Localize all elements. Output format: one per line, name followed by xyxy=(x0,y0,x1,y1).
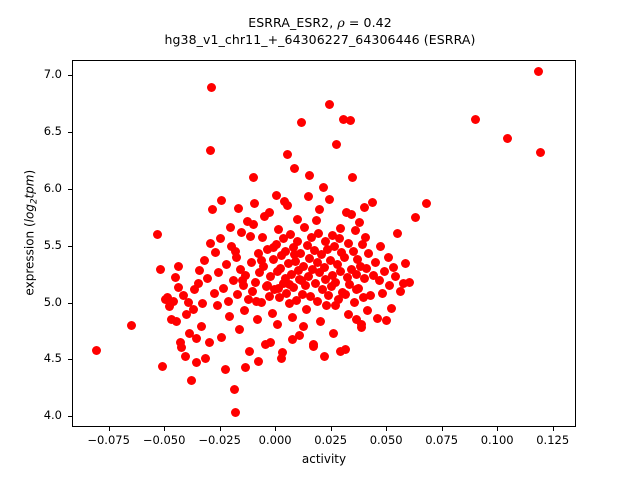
y-tick-mark xyxy=(68,189,72,190)
scatter-point xyxy=(316,317,325,326)
scatter-point xyxy=(268,309,277,318)
scatter-point xyxy=(153,230,162,239)
title-gene-pair: ESRRA_ESR2, xyxy=(248,15,337,30)
scatter-point xyxy=(320,352,329,361)
scatter-point xyxy=(380,267,389,276)
scatter-point xyxy=(288,313,297,322)
scatter-point xyxy=(364,249,373,258)
scatter-point xyxy=(304,192,313,201)
scatter-point xyxy=(211,248,220,257)
scatter-point xyxy=(405,278,414,287)
scatter-point xyxy=(200,256,209,265)
scatter-point xyxy=(221,365,230,374)
scatter-point xyxy=(324,291,333,300)
scatter-point xyxy=(363,306,372,315)
scatter-point xyxy=(319,183,328,192)
scatter-point xyxy=(216,234,225,243)
rho-symbol: ρ xyxy=(337,15,344,30)
scatter-point xyxy=(246,232,255,241)
scatter-point xyxy=(230,385,239,394)
scatter-point xyxy=(389,263,398,272)
scatter-point xyxy=(375,276,384,285)
x-tick-mark xyxy=(220,427,221,431)
x-tick-mark xyxy=(164,427,165,431)
scatter-point xyxy=(300,223,309,232)
scatter-point xyxy=(213,301,222,310)
scatter-point xyxy=(277,354,286,363)
scatter-point xyxy=(231,247,240,256)
scatter-point xyxy=(371,258,380,267)
scatter-point xyxy=(260,212,269,221)
scatter-point xyxy=(352,270,361,279)
scatter-point xyxy=(224,297,233,306)
x-tick-mark xyxy=(497,427,498,431)
scatter-point xyxy=(313,297,322,306)
scatter-point xyxy=(341,345,350,354)
scatter-point xyxy=(332,140,341,149)
scatter-point xyxy=(347,210,356,219)
scatter-point xyxy=(396,287,405,296)
scatter-point xyxy=(266,338,275,347)
scatter-point xyxy=(348,173,357,182)
scatter-point xyxy=(387,304,396,313)
scatter-point xyxy=(207,83,216,92)
scatter-point xyxy=(240,306,249,315)
scatter-point xyxy=(422,199,431,208)
scatter-point xyxy=(344,310,353,319)
scatter-point xyxy=(189,305,198,314)
scatter-point xyxy=(195,266,204,275)
scatter-point xyxy=(127,321,136,330)
scatter-point xyxy=(206,239,215,248)
scatter-point xyxy=(366,291,375,300)
scatter-point xyxy=(355,218,364,227)
chart-title-line2: hg38_v1_chr11_+_64306227_64306446 (ESRRA… xyxy=(0,31,640,48)
scatter-point xyxy=(274,225,283,234)
scatter-point xyxy=(172,317,181,326)
scatter-point xyxy=(263,281,272,290)
scatter-point xyxy=(302,305,311,314)
scatter-point xyxy=(254,357,263,366)
scatter-point xyxy=(382,316,391,325)
y-tick-mark xyxy=(68,416,72,417)
scatter-point xyxy=(258,233,267,242)
scatter-point xyxy=(249,220,258,229)
scatter-point xyxy=(229,276,238,285)
scatter-point xyxy=(411,213,420,222)
scatter-point xyxy=(361,233,370,242)
scatter-point xyxy=(174,262,183,271)
scatter-point xyxy=(177,343,186,352)
scatter-point xyxy=(233,290,242,299)
scatter-point xyxy=(360,274,369,283)
scatter-point xyxy=(252,297,261,306)
scatter-point xyxy=(205,338,214,347)
scatter-point xyxy=(248,287,257,296)
scatter-point xyxy=(250,199,259,208)
scatter-point xyxy=(534,67,543,76)
plot-area xyxy=(72,60,576,427)
y-label-suffix: ) xyxy=(22,170,36,175)
scatter-point xyxy=(206,146,215,155)
scatter-point xyxy=(288,335,297,344)
scatter-point xyxy=(158,362,167,371)
scatter-point xyxy=(293,237,302,246)
y-tick-mark xyxy=(68,132,72,133)
scatter-point xyxy=(283,150,292,159)
scatter-point xyxy=(217,196,226,205)
scatter-point xyxy=(247,258,256,267)
scatter-point xyxy=(214,268,223,277)
scatter-point xyxy=(325,195,334,204)
scatter-point xyxy=(401,259,410,268)
scatter-point xyxy=(340,253,349,262)
scatter-point xyxy=(305,171,314,180)
scatter-point xyxy=(210,289,219,298)
y-tick-mark xyxy=(68,246,72,247)
scatter-point xyxy=(279,234,288,243)
y-tick-mark xyxy=(68,303,72,304)
scatter-point xyxy=(357,320,366,329)
x-tick-mark xyxy=(109,427,110,431)
scatter-point xyxy=(373,314,382,323)
scatter-point xyxy=(536,148,545,157)
scatter-point xyxy=(290,164,299,173)
scatter-point xyxy=(194,279,203,288)
scatter-point xyxy=(329,329,338,338)
scatter-point xyxy=(171,273,180,282)
scatter-point xyxy=(322,301,331,310)
scatter-point xyxy=(249,173,258,182)
scatter-point xyxy=(299,322,308,331)
y-label-prefix: expression ( xyxy=(22,222,36,295)
scatter-point xyxy=(217,333,226,342)
scatter-point xyxy=(225,312,234,321)
y-tick-mark xyxy=(68,359,72,360)
x-tick-label: 0.125 xyxy=(508,433,598,447)
y-label-tpm: tpm xyxy=(22,175,36,199)
scatter-point xyxy=(393,229,402,238)
scatter-point xyxy=(192,334,201,343)
scatter-point xyxy=(384,253,393,262)
scatter-point xyxy=(208,205,217,214)
scatter-point xyxy=(241,363,250,372)
scatter-point xyxy=(346,116,355,125)
scatter-point xyxy=(181,352,190,361)
scatter-point xyxy=(203,274,212,283)
scatter-point xyxy=(251,278,260,287)
rho-value: = 0.42 xyxy=(345,15,392,30)
scatter-point xyxy=(92,346,101,355)
y-axis-label: expression (log2tpm) xyxy=(22,63,39,403)
x-tick-mark xyxy=(275,427,276,431)
scatter-point xyxy=(351,226,360,235)
scatter-point xyxy=(235,325,244,334)
scatter-point xyxy=(231,408,240,417)
scatter-point xyxy=(336,224,345,233)
scatter-point xyxy=(197,322,206,331)
scatter-point xyxy=(315,205,324,214)
scatter-point xyxy=(376,242,385,251)
x-tick-mark xyxy=(386,427,387,431)
x-tick-mark xyxy=(442,427,443,431)
scatter-point xyxy=(325,100,334,109)
scatter-point xyxy=(297,118,306,127)
y-label-log: log xyxy=(22,204,36,222)
chart-title: ESRRA_ESR2, ρ = 0.42 hg38_v1_chr11_+_643… xyxy=(0,14,640,48)
x-axis-label: activity xyxy=(72,452,576,466)
scatter-point xyxy=(335,234,344,243)
scatter-point xyxy=(273,320,282,329)
scatter-point xyxy=(350,298,359,307)
scatter-point xyxy=(314,229,323,238)
scatter-point xyxy=(378,289,387,298)
chart-title-line1: ESRRA_ESR2, ρ = 0.42 xyxy=(0,14,640,31)
y-tick-label: 4.0 xyxy=(0,408,62,422)
scatter-point xyxy=(285,280,294,289)
scatter-point xyxy=(198,299,207,308)
scatter-point xyxy=(192,358,201,367)
scatter-point xyxy=(169,297,178,306)
scatter-point xyxy=(234,204,243,213)
scatter-point xyxy=(269,243,278,252)
scatter-point xyxy=(283,201,292,210)
scatter-point xyxy=(331,278,340,287)
scatter-point xyxy=(293,215,302,224)
scatter-point xyxy=(312,216,321,225)
scatter-point xyxy=(385,281,394,290)
y-label-subscript: 2 xyxy=(30,199,40,205)
scatter-point xyxy=(331,301,340,310)
scatter-point xyxy=(341,290,350,299)
scatter-point xyxy=(187,376,196,385)
scatter-point xyxy=(201,354,210,363)
scatter-point xyxy=(226,223,235,232)
scatter-point xyxy=(245,347,254,356)
y-tick-mark xyxy=(68,75,72,76)
scatter-point xyxy=(156,265,165,274)
scatter-point xyxy=(222,260,231,269)
scatter-point xyxy=(309,342,318,351)
scatter-point xyxy=(219,284,228,293)
scatter-point xyxy=(391,272,400,281)
scatter-point xyxy=(299,262,308,271)
scatter-point xyxy=(253,315,262,324)
scatter-point xyxy=(368,198,377,207)
matplotlib-figure: ESRRA_ESR2, ρ = 0.42 hg38_v1_chr11_+_643… xyxy=(0,0,640,480)
scatter-point xyxy=(471,115,480,124)
x-tick-mark xyxy=(553,427,554,431)
x-tick-mark xyxy=(331,427,332,431)
scatter-point xyxy=(503,134,512,143)
